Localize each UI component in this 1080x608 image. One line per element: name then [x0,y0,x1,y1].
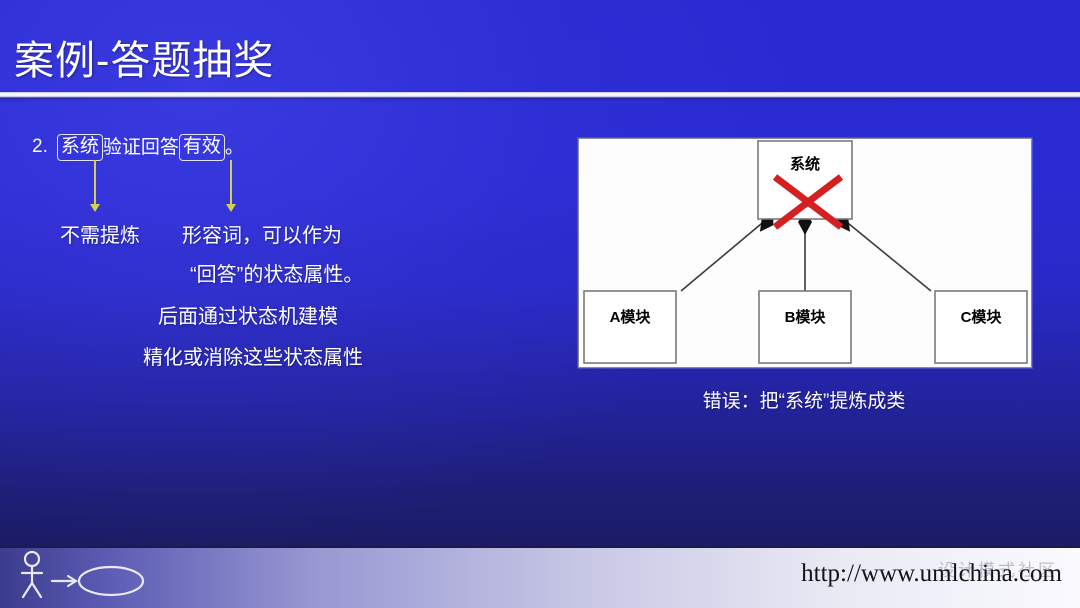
connector-arrow-left [90,204,100,212]
class-box-a [584,291,676,363]
bullet-line: 2. 系统 验证回答 有效 。 [32,134,244,161]
class-box-b [759,291,851,363]
connector-line-left [94,160,96,206]
class-label-system: 系统 [790,155,820,173]
annotation-no-extract: 不需提炼 [60,219,140,248]
link-system-c [843,219,931,291]
annotation-refine-remove: 精化或消除这些状态属性 [143,341,363,370]
title-divider [0,92,1080,98]
class-label-b: B模块 [785,308,827,326]
uml-composition-diagram: 系统 A模块 B模块 C模块 [579,139,1031,367]
diagram-panel: 系统 A模块 B模块 C模块 [578,138,1032,368]
annotation-state-machine: 后面通过状态机建模 [158,300,338,329]
bullet-text-end: 。 [225,137,244,159]
connector-line-right [230,160,232,206]
class-label-c: C模块 [961,308,1003,326]
annotation-state-attr: “回答”的状态属性。 [190,258,363,287]
page-title: 案例-答题抽奖 [14,28,274,86]
highlight-box-valid: 有效 [179,134,225,161]
connector-arrow-right [226,204,236,212]
slide-canvas: 案例-答题抽奖 2. 系统 验证回答 有效 。 不需提炼 形容词，可以作为 “回… [0,0,1080,608]
class-label-a: A模块 [610,308,652,326]
annotation-adjective: 形容词，可以作为 [182,219,342,248]
highlight-box-system: 系统 [57,134,103,161]
bullet-text-middle: 验证回答 [103,137,179,159]
bullet-number: 2. [32,136,48,158]
footer-url[interactable]: http://www.umlchina.com [801,560,1062,588]
class-box-c [935,291,1027,363]
link-system-a [681,219,767,291]
usecase-actor-icon [16,550,176,602]
diagram-caption: 错误：把“系统”提炼成类 [578,386,1030,413]
